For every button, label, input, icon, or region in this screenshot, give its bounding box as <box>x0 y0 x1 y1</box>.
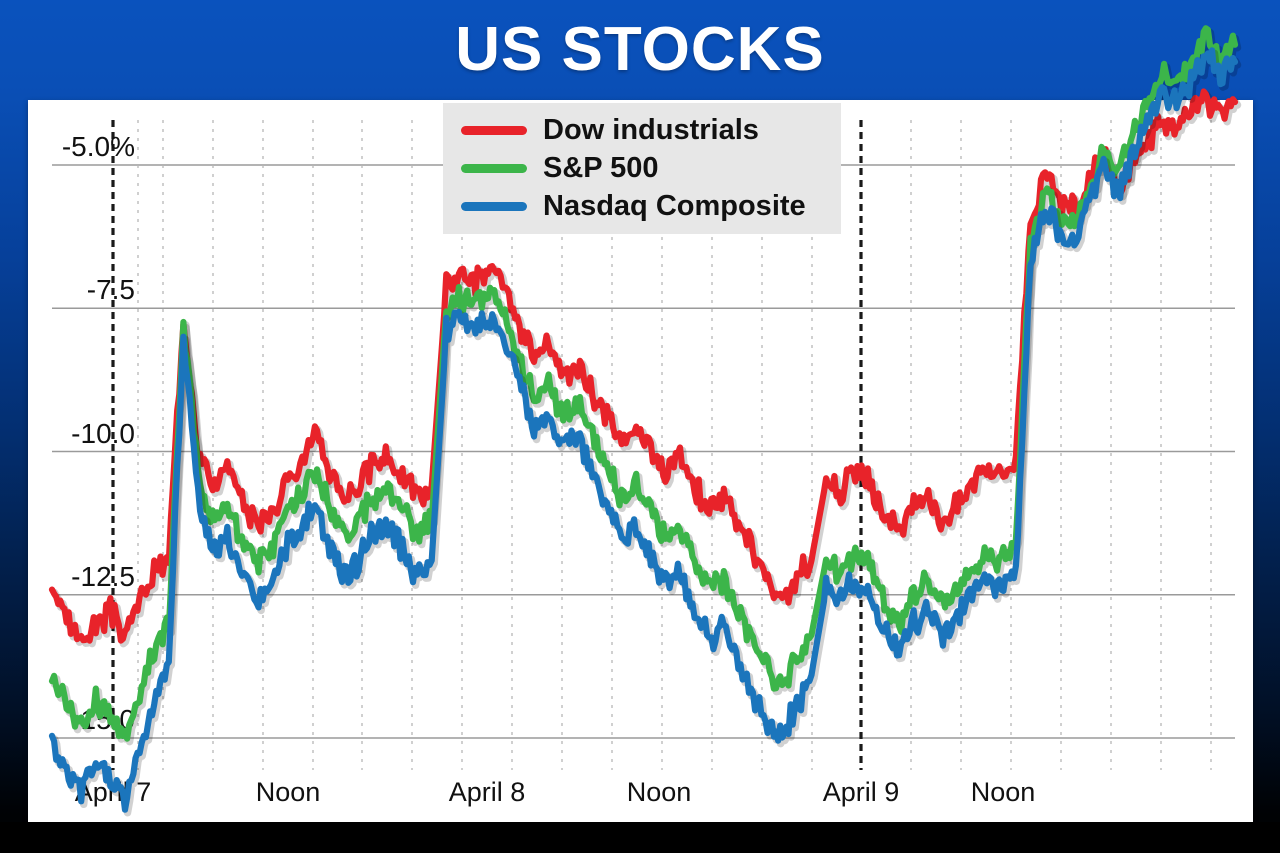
us-stocks-chart-graphic: US STOCKS Dow industrials S&P 500 Nasdaq… <box>0 0 1280 853</box>
legend-label-nasdaq: Nasdaq Composite <box>543 191 806 221</box>
line-swatch-icon-sp500 <box>461 164 527 173</box>
y-axis-tick-label: -15.0 <box>0 704 135 736</box>
legend-label-sp500: S&P 500 <box>543 153 659 183</box>
x-axis-tick-label: Noon <box>198 777 378 808</box>
legend-item-dow[interactable]: Dow industrials <box>443 111 841 149</box>
x-axis-tick-label: Noon <box>913 777 1093 808</box>
page-title: US STOCKS <box>0 10 1280 90</box>
legend-item-nasdaq[interactable]: Nasdaq Composite <box>443 187 841 225</box>
chart-legend: Dow industrials S&P 500 Nasdaq Composite <box>443 103 841 234</box>
y-axis-tick-label: -12.5 <box>0 561 135 593</box>
x-axis-tick-label: Noon <box>569 777 749 808</box>
bottom-black-band <box>0 822 1280 853</box>
legend-item-sp500[interactable]: S&P 500 <box>443 149 841 187</box>
y-axis-tick-label: -10.0 <box>0 418 135 450</box>
line-swatch-icon-nasdaq <box>461 202 527 211</box>
line-swatch-icon-dow <box>461 126 527 135</box>
x-axis-tick-label: April 8 <box>397 777 577 808</box>
y-axis-tick-label: -7.5 <box>0 274 135 306</box>
x-axis-tick-label: April 7 <box>23 777 203 808</box>
legend-label-dow: Dow industrials <box>543 115 759 145</box>
y-axis-tick-label: -5.0% <box>0 131 135 163</box>
